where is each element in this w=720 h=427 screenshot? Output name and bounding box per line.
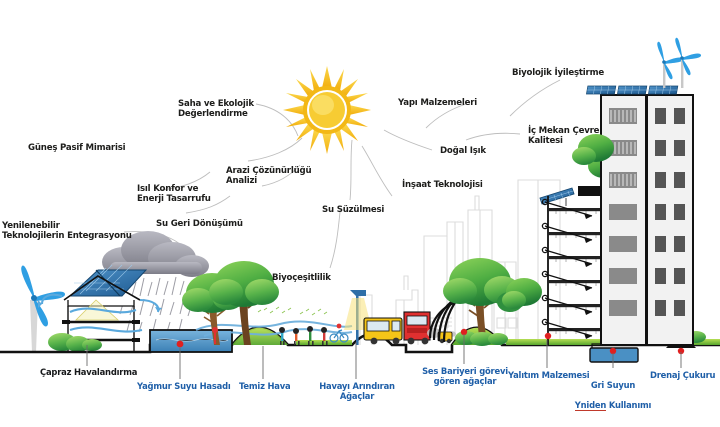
label-biyocesitlilik: Biyoçeşitlilik bbox=[272, 273, 331, 283]
gri-suyun-line2-rest: Kullanımı bbox=[606, 400, 651, 410]
label-yagmur-suyu-hasadi: Yağmur Suyu Hasadı bbox=[137, 382, 231, 392]
label-su-geri-donusumu: Su Geri Dönüşümü bbox=[156, 219, 243, 229]
bus-icon bbox=[364, 318, 402, 344]
infographic-canvas: Güneş Pasif Mimarisi Yenilenebilir Tekno… bbox=[0, 0, 720, 427]
label-dogal-isik: Doğal Işık bbox=[440, 146, 486, 156]
label-temiz-hava: Temiz Hava bbox=[239, 382, 290, 392]
gri-suyun-line1: Gri Suyun bbox=[591, 380, 635, 390]
label-saha-ve-ekolojik-degerlendirme: Saha ve Ekolojik Değerlendirme bbox=[178, 99, 254, 119]
label-arazi-cozunurlugu-analizi: Arazi Çözünürlüğü Analizi bbox=[226, 166, 311, 186]
label-gri-suyun-yniden-kullanimi: Gri Suyun Yniden Kullanımı bbox=[570, 371, 656, 411]
label-ses-bariyeri-gorevi-goren-agaclar: Ses Bariyeri görevi gören ağaçlar bbox=[420, 367, 510, 387]
label-havayi-arindiran-agaclar: Havayı Arındıran Ağaçlar bbox=[318, 382, 396, 402]
label-biyolojik-iyilestirme: Biyolojik İyileştirme bbox=[512, 68, 604, 78]
label-yenilenebilir-teknolojilerin-entegrasyonu: Yenilenebilir Teknolojilerin Entegrasyon… bbox=[2, 221, 132, 241]
label-su-suzulmesi: Su Süzülmesi bbox=[322, 205, 384, 215]
label-yapi-malzemeleri: Yapı Malzemeleri bbox=[398, 98, 477, 108]
label-ic-mekan-cevre-kalitesi: İç Mekan Çevre Kalitesi bbox=[528, 126, 599, 146]
marker-dot bbox=[545, 333, 551, 339]
sun-icon bbox=[283, 66, 371, 154]
label-drenaj-cukuru: Drenaj Çukuru bbox=[650, 371, 715, 381]
label-insaat-teknolojisi: İnşaat Teknolojisi bbox=[402, 180, 483, 190]
marker-dot bbox=[177, 341, 184, 348]
truck-icon bbox=[404, 312, 430, 344]
label-capraz-havalandirma: Çapraz Havalandırma bbox=[40, 368, 137, 378]
gri-suyun-underlined-word: Yniden bbox=[575, 400, 606, 411]
label-gunes-pasif-mimarisi: Güneş Pasif Mimarisi bbox=[28, 143, 125, 153]
label-isil-konfor-ve-enerji-tasarrufu: Isıl Konfor ve Enerji Tasarrufu bbox=[137, 184, 211, 204]
